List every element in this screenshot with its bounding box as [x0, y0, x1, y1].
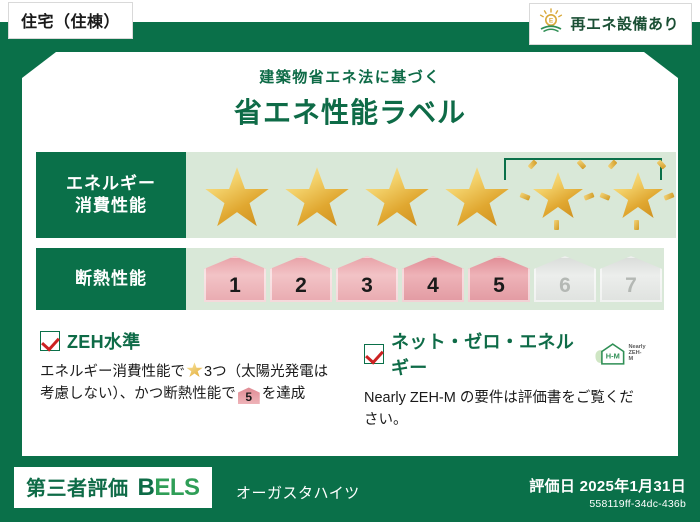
ray	[528, 159, 538, 169]
zeh-body-part3: を達成	[262, 386, 306, 402]
bels-badge: 第三者評価 BELS	[14, 467, 212, 508]
star-rating	[186, 158, 676, 232]
zeh-standard-block: ZEH水準 エネルギー消費性能で3つ（太陽光発電は考慮しない）、かつ断熱性能で5…	[40, 328, 350, 432]
title-subtitle: 建築物省エネ法に基づく	[22, 66, 678, 87]
net-zero-title: ネット・ゼロ・エネルギー	[391, 328, 580, 380]
insulation-level-5: 5	[468, 256, 530, 302]
star-icon	[364, 166, 430, 230]
star-icon-inline	[186, 362, 203, 378]
star-3	[358, 158, 436, 232]
document-id: 558119ff-34dc-436b	[529, 498, 686, 510]
criteria-section: ZEH水準 エネルギー消費性能で3つ（太陽光発電は考慮しない）、かつ断熱性能で5…	[40, 328, 660, 432]
star-1	[198, 158, 276, 232]
insulation-level-scale: 1 2 3 4 5 6 7	[186, 256, 662, 302]
star-6-solar	[598, 158, 676, 232]
star-icon	[284, 166, 350, 230]
ray	[599, 192, 610, 200]
energy-row-value: 太陽光発電(自家消費)分	[186, 152, 676, 238]
ray	[583, 192, 594, 200]
zeh-m-logo: H-M Nearly ZEH-M	[593, 341, 646, 367]
ray	[663, 192, 674, 200]
net-zero-body: Nearly ZEH-M の要件は評価書をご覧ください。	[364, 387, 646, 432]
energy-row-label-line2: 消費性能	[75, 195, 147, 217]
zeh-standard-title: ZEH水準	[67, 328, 141, 354]
net-zero-energy-block: ネット・ゼロ・エネルギー H-M Nearly ZEH-M Nearly	[350, 328, 660, 432]
title-main: 省エネ性能ラベル	[22, 91, 678, 131]
insulation-row-value: 1 2 3 4 5 6 7	[186, 248, 664, 310]
zeh-standard-body: エネルギー消費性能で3つ（太陽光発電は考慮しない）、かつ断熱性能で5を達成	[40, 361, 336, 406]
star-icon	[444, 166, 510, 230]
star-5-solar	[518, 158, 596, 232]
ray	[577, 159, 587, 169]
label-body: 建築物省エネ法に基づく 省エネ性能ラベル エネルギー 消費性能 太陽光発電(自家…	[22, 52, 678, 456]
svg-text:H-M: H-M	[606, 351, 620, 360]
insulation-level-1: 1	[204, 256, 266, 302]
svg-text:E: E	[549, 18, 554, 25]
bels-logo-b: B	[138, 474, 155, 501]
insulation-level-4: 4	[402, 256, 464, 302]
ray	[657, 159, 667, 169]
star-2	[278, 158, 356, 232]
ray	[634, 220, 639, 230]
energy-row-label-line1: エネルギー	[66, 173, 156, 195]
title-block: 建築物省エネ法に基づく 省エネ性能ラベル	[22, 66, 678, 131]
insulation-row-label-line1: 断熱性能	[75, 268, 147, 290]
insulation-badge-inline: 5	[238, 387, 260, 404]
star-icon	[532, 171, 584, 221]
evaluation-date: 評価日 2025年1月31日	[529, 475, 686, 496]
bels-logo-els: ELS	[154, 474, 199, 501]
zeh-logo-sub-line2: ZEH-M	[628, 351, 646, 363]
building-type-tab: 住宅（住棟）	[8, 2, 133, 39]
star-4	[438, 158, 516, 232]
zeh-standard-header: ZEH水準	[40, 328, 336, 354]
renewable-badge-label: 再エネ設備あり	[570, 13, 679, 34]
bels-logo: BELS	[138, 474, 200, 502]
insulation-level-6: 6	[534, 256, 596, 302]
energy-performance-row: エネルギー 消費性能 太陽光発電(自家消費)分	[36, 152, 664, 238]
insulation-level-3: 3	[336, 256, 398, 302]
zeh-body-star-count: 3つ（太陽光発電	[204, 364, 314, 380]
check-icon	[364, 344, 384, 364]
star-icon	[204, 166, 270, 230]
star-icon	[612, 171, 664, 221]
check-icon	[40, 331, 60, 351]
ray	[519, 192, 530, 200]
footer-meta: 評価日 2025年1月31日 558119ff-34dc-436b	[529, 475, 686, 510]
energy-row-label: エネルギー 消費性能	[36, 152, 186, 238]
energy-performance-label: 住宅（住棟） E 再エネ設備あり 建築物省エネ法に基づく	[0, 0, 700, 522]
insulation-row-label: 断熱性能	[36, 248, 186, 310]
ray	[554, 220, 559, 230]
zeh-body-part1: エネルギー消費性能で	[40, 364, 185, 380]
property-name: オーガスタハイツ	[236, 482, 360, 503]
net-zero-header: ネット・ゼロ・エネルギー H-M Nearly ZEH-M	[364, 328, 646, 380]
insulation-level-2: 2	[270, 256, 332, 302]
insulation-level-7: 7	[600, 256, 662, 302]
renewable-energy-badge: E 再エネ設備あり	[529, 3, 692, 45]
insulation-performance-row: 断熱性能 1 2 3 4 5 6 7	[36, 248, 664, 310]
solar-sun-icon: E	[538, 8, 564, 39]
third-party-label: 第三者評価	[26, 472, 129, 501]
ray	[608, 159, 618, 169]
